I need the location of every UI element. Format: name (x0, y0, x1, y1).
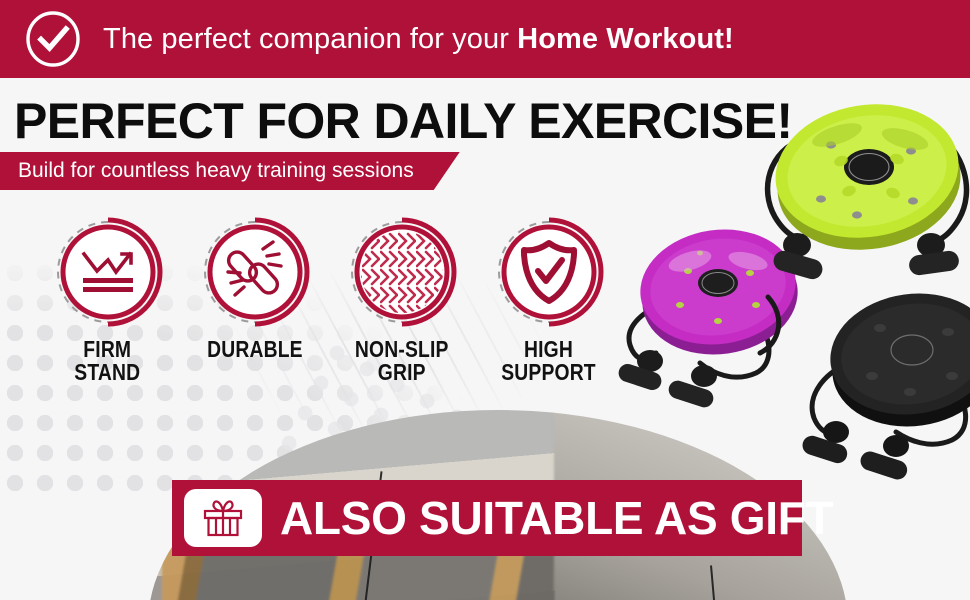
firm-stand-icon (50, 214, 166, 330)
badge-firm-stand (50, 214, 166, 330)
feature-label-high-support: HIGH SUPPORT (487, 338, 610, 383)
feature-label-line2: GRIP (355, 361, 449, 384)
badge-durable (197, 214, 313, 330)
feature-label-durable: DURABLE (207, 338, 303, 361)
gift-banner-text: ALSO SUITABLE AS GIFT (280, 491, 833, 545)
feature-label-line1: DURABLE (207, 338, 303, 361)
tread-pattern-icon (344, 214, 460, 330)
product-banner: The perfect companion for your Home Work… (0, 0, 970, 600)
subtitle-text: Build for countless heavy training sessi… (4, 159, 414, 183)
top-tagline-bar: The perfect companion for your Home Work… (0, 0, 970, 78)
twist-board-black (780, 280, 970, 495)
top-tagline-bold: Home Workout! (517, 23, 734, 55)
feature-list: FIRM STAND (34, 214, 634, 404)
badge-non-slip-grip (344, 214, 460, 330)
gift-banner: ALSO SUITABLE AS GIFT (172, 480, 802, 556)
feature-label-line1: FIRM (75, 338, 141, 361)
badge-high-support (491, 214, 607, 330)
feature-durable: DURABLE (181, 214, 328, 404)
product-images (600, 95, 970, 475)
feature-label-line1: HIGH SUPPORT (487, 338, 610, 383)
gift-icon-container (184, 489, 262, 547)
subtitle-ribbon: Build for countless heavy training sessi… (0, 152, 460, 190)
feature-label-firm-stand: FIRM STAND (75, 338, 141, 383)
feature-firm-stand: FIRM STAND (34, 214, 181, 404)
feature-label-non-slip-grip: NON-SLIP GRIP (355, 338, 449, 383)
top-tagline-plain: The perfect companion for your (103, 23, 517, 55)
chain-link-icon (197, 214, 313, 330)
top-tagline-text: The perfect companion for your Home Work… (103, 23, 734, 56)
feature-non-slip-grip: NON-SLIP GRIP (328, 214, 475, 404)
feature-label-line1: NON-SLIP (355, 338, 449, 361)
gift-box-icon (202, 498, 244, 538)
shield-check-icon (491, 214, 607, 330)
feature-label-line2: STAND (75, 361, 141, 384)
check-circle-icon (25, 11, 81, 67)
twist-board-black-icon (780, 280, 970, 495)
